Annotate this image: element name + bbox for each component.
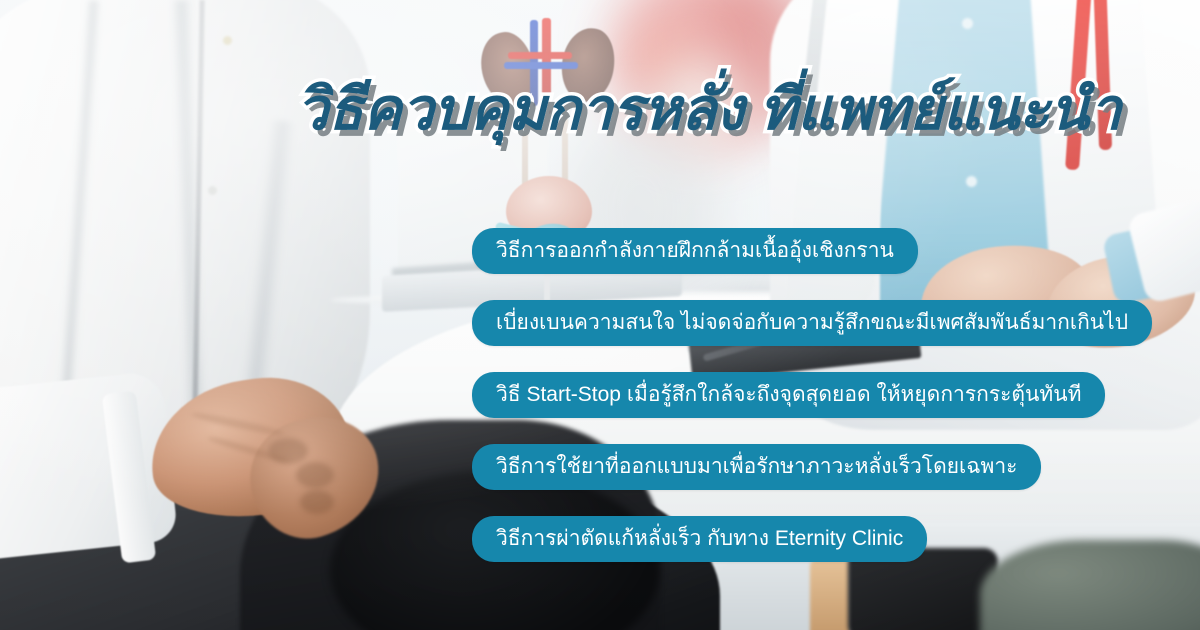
list-item[interactable]: เบี่ยงเบนความสนใจ ไม่จดจ่อกับความรู้สึกข… (472, 300, 1152, 346)
list-item[interactable]: วิธีการใช้ยาที่ออกแบบมาเพื่อรักษาภาวะหลั… (472, 444, 1041, 490)
list-item[interactable]: วิธีการออกกำลังกายฝึกกล้ามเนื้ออุ้งเชิงก… (472, 228, 918, 274)
knuckle (296, 462, 334, 488)
page-title: วิธีควบคุมการหลั่ง ที่แพทย์แนะนำ (296, 78, 1121, 142)
doctor-shirt-button (966, 176, 977, 187)
banner-image: วิธีควบคุมการหลั่ง ที่แพทย์แนะนำ วิธีการ… (0, 0, 1200, 630)
chair-leg (810, 560, 850, 630)
shirt-button (223, 36, 232, 45)
list-item[interactable]: วิธีการผ่าตัดแก้หลั่งเร็ว กับทาง Eternit… (472, 516, 927, 562)
doctor-shirt-button (962, 18, 973, 29)
list-item[interactable]: วิธี Start-Stop เมื่อรู้สึกใกล้จะถึงจุดส… (472, 372, 1105, 418)
knuckle (300, 490, 334, 514)
artery-branch (508, 52, 572, 59)
treatment-method-list: วิธีการออกกำลังกายฝึกกล้ามเนื้ออุ้งเชิงก… (472, 228, 1152, 562)
vein-branch (504, 62, 578, 69)
shirt-button (208, 186, 217, 195)
